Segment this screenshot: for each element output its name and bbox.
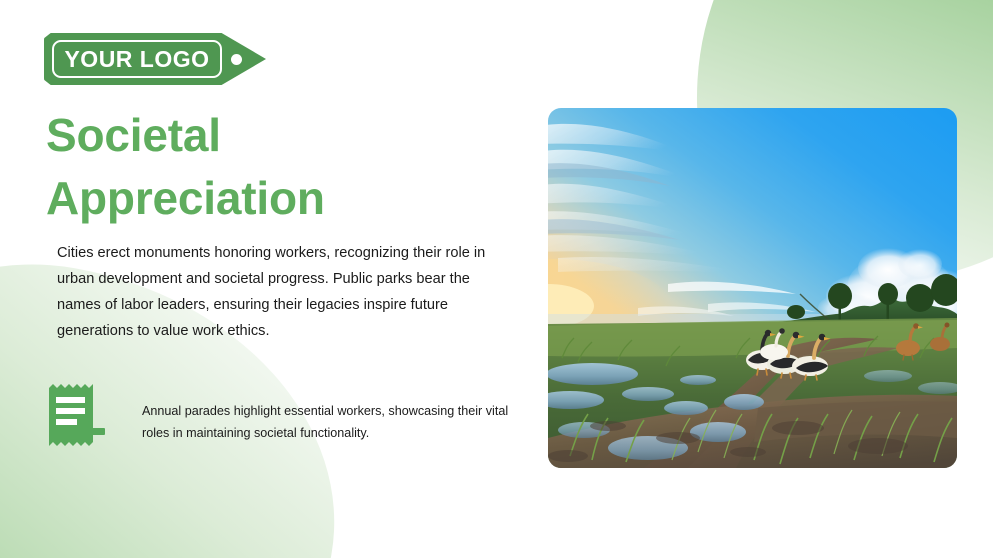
slide-canvas: YOUR LOGO Societal Appreciation Cities e… [0,0,993,558]
circle-dot-icon [231,54,242,65]
logo-text: YOUR LOGO [52,40,222,78]
page-title-line-1: Societal [46,104,486,167]
receipt-document-icon [47,384,107,446]
body-paragraph: Cities erect monuments honoring workers,… [57,240,497,344]
page-title-line-2: Appreciation [46,167,486,230]
footnote-row: Annual parades highlight essential worke… [47,384,527,446]
logo[interactable]: YOUR LOGO [44,33,266,85]
footnote-text: Annual parades highlight essential worke… [142,400,527,444]
feature-photo [548,108,957,468]
page-title: Societal Appreciation [46,104,486,231]
